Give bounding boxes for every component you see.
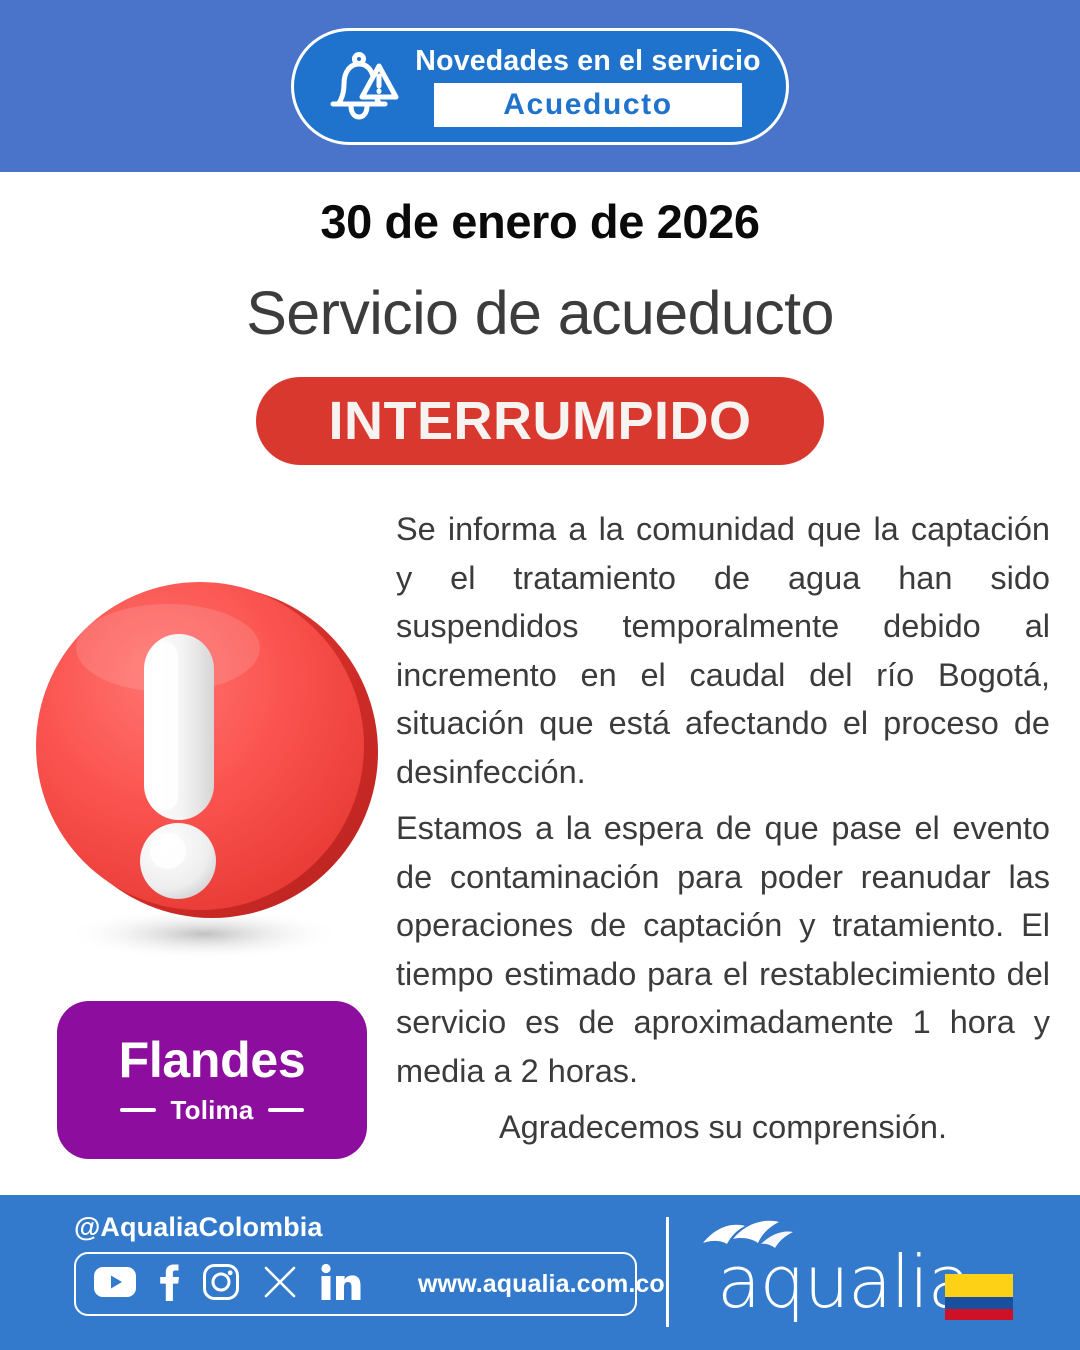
website-url[interactable]: www.aqualia.com.co: [418, 1270, 665, 1299]
body-text-block: Se informa a la comunidad que la captaci…: [396, 505, 1050, 1152]
service-title: Servicio de acueducto: [0, 278, 1080, 348]
red-exclamation-circle-icon: [26, 556, 386, 966]
poster-root: Novedades en el servicio Acueducto 30 de…: [0, 0, 1080, 1350]
bell-alert-icon: [320, 46, 402, 128]
x-twitter-icon[interactable]: [262, 1264, 298, 1305]
linkedin-icon[interactable]: [320, 1263, 362, 1306]
location-subrow: Tolima: [120, 1095, 303, 1126]
header-text-group: Novedades en el servicio Acueducto: [406, 46, 786, 127]
body-paragraph-3: Agradecemos su comprensión.: [396, 1103, 1050, 1152]
body-paragraph-1: Se informa a la comunidad que la captaci…: [396, 505, 1050, 796]
header-subtitle: Acueducto: [503, 88, 672, 122]
social-handle: @AqualiaColombia: [74, 1212, 644, 1243]
header-title: Novedades en el servicio: [415, 46, 760, 77]
status-badge-label: INTERRUMPIDO: [329, 394, 752, 448]
facebook-icon[interactable]: [158, 1262, 180, 1307]
colombia-flag-icon: [945, 1274, 1013, 1320]
dash-left-icon: [120, 1108, 156, 1112]
logo-row: aqualia: [695, 1218, 1015, 1330]
location-city: Flandes: [119, 1034, 306, 1087]
instagram-icon[interactable]: [202, 1263, 240, 1306]
footer-vertical-divider: [666, 1217, 669, 1327]
announcement-date: 30 de enero de 2026: [0, 194, 1080, 249]
social-links-box: www.aqualia.com.co: [74, 1252, 637, 1316]
body-paragraph-2: Estamos a la espera de que pase el event…: [396, 804, 1050, 1095]
status-badge: INTERRUMPIDO: [256, 377, 824, 465]
youtube-icon[interactable]: [94, 1267, 136, 1302]
footer-left-group: @AqualiaColombia: [74, 1212, 644, 1316]
header-subtitle-box: Acueducto: [434, 83, 742, 127]
header-pill: Novedades en el servicio Acueducto: [291, 28, 789, 145]
aqualia-wordmark: aqualia: [717, 1246, 970, 1318]
dash-right-icon: [268, 1108, 304, 1112]
aqualia-logo: aqualia: [695, 1218, 1015, 1330]
location-badge: Flandes Tolima: [57, 1001, 367, 1159]
location-department: Tolima: [170, 1095, 253, 1126]
